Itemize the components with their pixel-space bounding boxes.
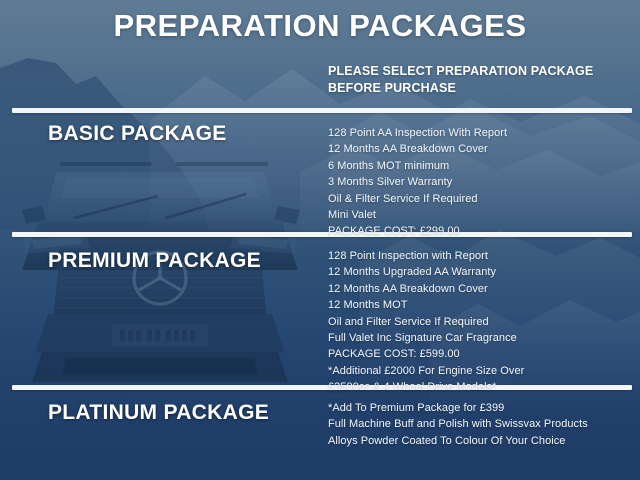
feature-item: 12 Months MOT bbox=[328, 297, 634, 313]
package-features-basic: 128 Point AA Inspection With Report 12 M… bbox=[328, 125, 634, 240]
package-title-premium[interactable]: PREMIUM PACKAGE bbox=[48, 249, 261, 273]
poster-content: PREPARATION PACKAGES PLEASE SELECT PREPA… bbox=[0, 0, 640, 480]
selection-instruction: PLEASE SELECT PREPARATION PACKAGE BEFORE… bbox=[328, 63, 628, 97]
package-title-basic[interactable]: BASIC PACKAGE bbox=[48, 122, 227, 146]
feature-item: 12 Months Upgraded AA Warranty bbox=[328, 264, 634, 280]
instruction-line-1: PLEASE SELECT PREPARATION PACKAGE bbox=[328, 63, 628, 80]
package-features-premium: 128 Point Inspection with Report 12 Mont… bbox=[328, 248, 634, 396]
feature-item: Full Valet Inc Signature Car Fragrance bbox=[328, 330, 634, 346]
feature-item: 3 Months Silver Warranty bbox=[328, 174, 634, 190]
feature-item: Alloys Powder Coated To Colour Of Your C… bbox=[328, 433, 634, 449]
instruction-line-2: BEFORE PURCHASE bbox=[328, 80, 628, 97]
feature-item: Mini Valet bbox=[328, 207, 634, 223]
package-title-platinum[interactable]: PLATINUM PACKAGE bbox=[48, 401, 269, 425]
package-cost-premium: PACKAGE COST: £599.00 bbox=[328, 346, 634, 362]
divider-above-basic bbox=[12, 108, 632, 113]
feature-item: Oil and Filter Service If Required bbox=[328, 314, 634, 330]
feature-item: Oil & Filter Service If Required bbox=[328, 191, 634, 207]
feature-item: 128 Point AA Inspection With Report bbox=[328, 125, 634, 141]
page-title: PREPARATION PACKAGES bbox=[0, 8, 640, 44]
preparation-packages-poster: PREPARATION PACKAGES PLEASE SELECT PREPA… bbox=[0, 0, 640, 480]
package-note-premium-2: £2500cc & 4 Wheel Drive Models* bbox=[328, 379, 634, 395]
feature-item: 12 Months AA Breakdown Cover bbox=[328, 141, 634, 157]
package-note-premium-1: *Additional £2000 For Engine Size Over bbox=[328, 363, 634, 379]
feature-item: Full Machine Buff and Polish with Swissv… bbox=[328, 416, 634, 432]
package-features-platinum: *Add To Premium Package for £399 Full Ma… bbox=[328, 400, 634, 449]
package-cost-platinum: *Add To Premium Package for £399 bbox=[328, 400, 634, 416]
feature-item: 128 Point Inspection with Report bbox=[328, 248, 634, 264]
feature-item: 6 Months MOT minimum bbox=[328, 158, 634, 174]
feature-item: 12 Months AA Breakdown Cover bbox=[328, 281, 634, 297]
package-cost-basic: PACKAGE COST: £299.00 bbox=[328, 223, 634, 239]
